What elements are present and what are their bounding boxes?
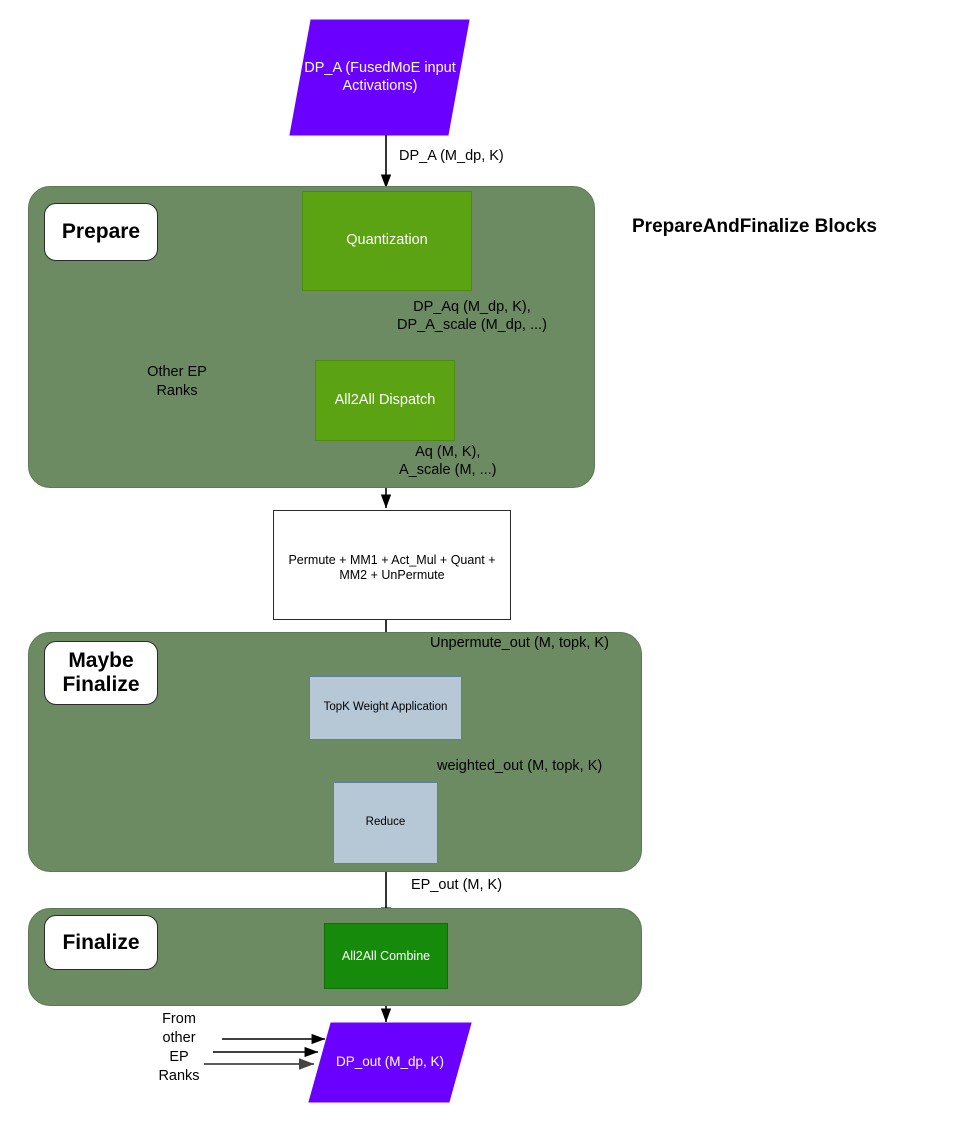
edge-label-dispatched: Aq (M, K), A_scale (M, ...) [399,443,497,479]
group-prepare-label-chip: Prepare [44,203,158,261]
group-maybe-finalize-label-chip: Maybe Finalize [44,641,158,705]
all2all-combine-node[interactable]: All2All Combine [324,923,448,989]
diagram-canvas: Prepare Maybe Finalize Finalize DP_A (Fu… [0,0,971,1121]
dp-a-node-label: DP_A (FusedMoE input Activations) [290,20,470,136]
diagram-title: PrepareAndFinalize Blocks [632,216,877,238]
dp-a-node[interactable]: DP_A (FusedMoE input Activations) [290,20,470,136]
group-finalize-label-chip: Finalize [44,915,158,970]
all2all-dispatch-node[interactable]: All2All Dispatch [315,360,455,441]
edge-label-unpermute-out: Unpermute_out (M, topk, K) [430,634,609,652]
edge-label-dp-a-out: DP_A (M_dp, K) [399,147,504,165]
from-other-ep-ranks-label: From other EP Ranks [148,1010,210,1085]
edge-label-ep-out: EP_out (M, K) [411,876,502,894]
dp-out-node-label: DP_out (M_dp, K) [309,1023,471,1102]
edge-label-weighted-out: weighted_out (M, topk, K) [437,757,602,775]
dp-out-node[interactable]: DP_out (M_dp, K) [309,1023,471,1102]
expert-compute-node[interactable]: Permute + MM1 + Act_Mul + Quant + MM2 + … [273,510,511,620]
topk-weight-application-node[interactable]: TopK Weight Application [309,676,462,740]
reduce-node[interactable]: Reduce [333,782,438,864]
edge-label-quantized: DP_Aq (M_dp, K), DP_A_scale (M_dp, ...) [397,298,547,334]
quantization-node[interactable]: Quantization [302,191,472,291]
other-ep-ranks-label: Other EP Ranks [136,363,218,401]
